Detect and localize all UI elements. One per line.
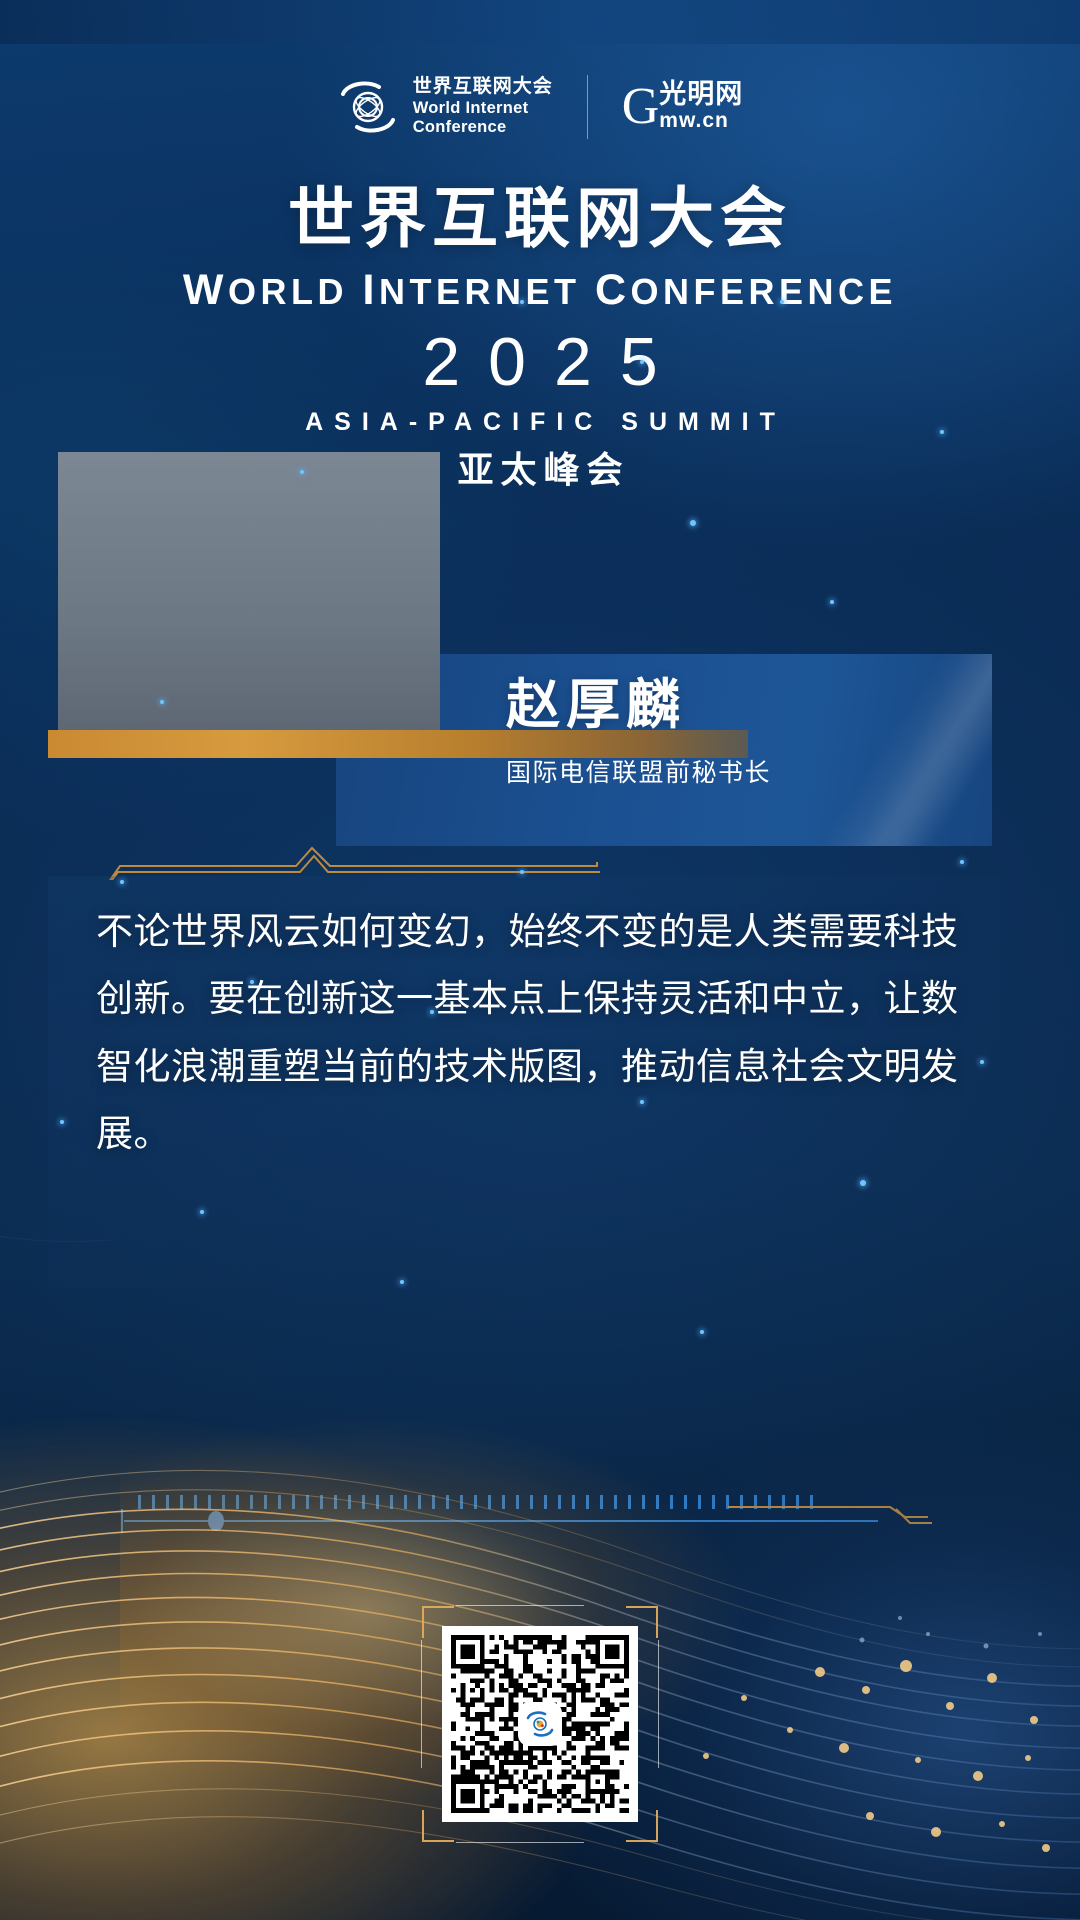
title-en: WORLD INTERNET CONFERENCE xyxy=(0,269,1080,312)
decor-star-speck xyxy=(120,880,124,884)
decor-star-speck xyxy=(160,700,164,704)
wic-logo-cn: 世界互联网大会 xyxy=(413,76,553,98)
decor-star-speck xyxy=(250,980,254,984)
decor-star-speck xyxy=(860,1180,866,1186)
wic-logo-en-line1: World Internet xyxy=(413,99,553,118)
gmw-logo-domain: mw.cn xyxy=(659,110,743,132)
band-shine xyxy=(852,654,992,846)
conference-title-block: 世界互联网大会 WORLD INTERNET CONFERENCE 2025 A… xyxy=(0,186,1080,489)
poster-root: 世界互联网大会 World Internet Conference G 光明网 … xyxy=(0,0,1080,1920)
decor-star-speck xyxy=(400,1280,404,1284)
decor-star-speck xyxy=(640,360,644,364)
top-accent-bar xyxy=(0,0,1080,44)
gmw-logo-text: 光明网 mw.cn xyxy=(659,81,743,132)
qr-code-block[interactable] xyxy=(442,1626,638,1822)
decor-star-speck xyxy=(780,300,784,304)
decor-star-speck xyxy=(60,1120,64,1124)
gmw-logo-cn: 光明网 xyxy=(659,81,743,108)
wic-spiral-logo-icon xyxy=(337,76,399,138)
decor-star-speck xyxy=(430,1010,434,1014)
decor-star-speck xyxy=(520,300,524,304)
wic-logo-text: 世界互联网大会 World Internet Conference xyxy=(413,76,553,137)
decor-star-speck xyxy=(960,860,964,864)
decor-star-speck xyxy=(300,470,304,474)
decor-star-speck xyxy=(520,870,524,874)
title-cn: 世界互联网大会 xyxy=(0,186,1080,252)
qr-code[interactable] xyxy=(442,1626,638,1822)
title-year: 2025 xyxy=(0,328,1080,396)
speaker-photo xyxy=(58,452,440,730)
gmw-logo: G 光明网 mw.cn xyxy=(622,81,744,132)
speaker-name: 赵厚麟 xyxy=(506,678,771,732)
decor-star-speck xyxy=(200,1210,204,1214)
decor-star-speck xyxy=(940,430,944,434)
decor-star-speck xyxy=(830,600,834,604)
logo-divider xyxy=(587,75,588,139)
wic-spiral-logo-icon xyxy=(520,1704,560,1744)
decor-star-speck xyxy=(640,1100,644,1104)
decor-star-speck xyxy=(700,1330,704,1334)
title-en-subtitle: ASIA-PACIFIC SUMMIT xyxy=(0,410,1080,435)
photo-background xyxy=(58,452,440,730)
quote-text: 不论世界风云如何变幻，始终不变的是人类需要科技创新。要在创新这一基本点上保持灵活… xyxy=(96,898,986,1167)
wic-logo: 世界互联网大会 World Internet Conference xyxy=(337,76,553,138)
wic-logo-en-line2: Conference xyxy=(413,118,553,137)
decor-star-speck xyxy=(980,1060,984,1064)
gold-accent-bar xyxy=(48,730,748,758)
speaker-title: 国际电信联盟前秘书长 xyxy=(506,760,771,785)
gmw-g-mark-icon: G xyxy=(622,84,658,131)
logo-bar: 世界互联网大会 World Internet Conference G 光明网 … xyxy=(0,52,1080,162)
decor-star-speck xyxy=(690,520,696,526)
